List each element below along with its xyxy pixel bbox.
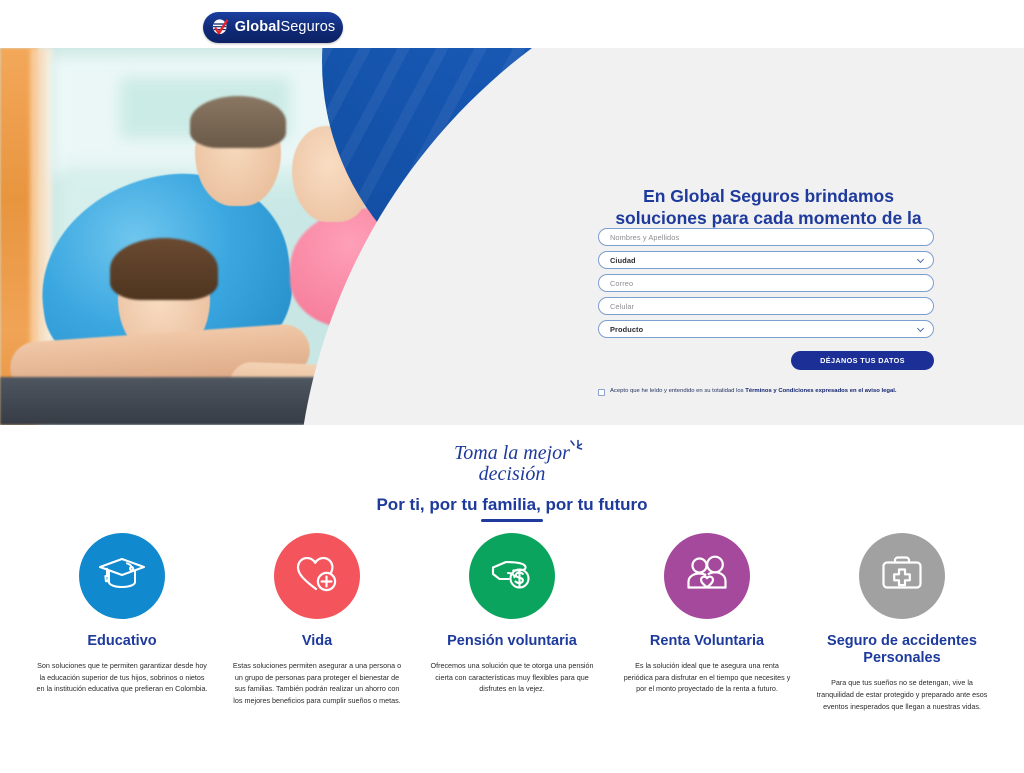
product-cards: Educativo Son soluciones que te permiten… bbox=[0, 533, 1024, 712]
ciudad-select[interactable]: Ciudad bbox=[598, 251, 934, 269]
card-description: Estas soluciones permiten asegurar a una… bbox=[231, 660, 403, 707]
correo-placeholder: Correo bbox=[599, 279, 633, 288]
sparkle-icon bbox=[567, 438, 585, 456]
card-description: Es la solución ideal que te asegura una … bbox=[621, 660, 793, 695]
producto-value: Producto bbox=[599, 325, 643, 334]
logo-bold: Global bbox=[235, 19, 281, 35]
nombres-field[interactable]: Nombres y Apellidos bbox=[598, 228, 934, 246]
globalseguros-logo[interactable]: GlobalSeguros bbox=[203, 12, 343, 43]
card-seguro-accidentes[interactable]: Seguro de accidentes Personales Para que… bbox=[805, 533, 1000, 712]
script-heading: Toma la mejor decisión bbox=[0, 443, 1024, 485]
card-description: Para que tus sueños no se detengan, vive… bbox=[814, 677, 990, 712]
card-icon-circle bbox=[274, 533, 360, 619]
submit-button[interactable]: DÉJANOS TUS DATOS bbox=[791, 351, 934, 370]
nombres-placeholder: Nombres y Apellidos bbox=[599, 233, 679, 242]
celular-placeholder: Celular bbox=[599, 302, 634, 311]
ciudad-value: Ciudad bbox=[599, 256, 636, 265]
first-aid-kit-icon bbox=[876, 548, 928, 605]
card-icon-circle bbox=[79, 533, 165, 619]
celular-field[interactable]: Celular bbox=[598, 297, 934, 315]
globe-check-icon bbox=[211, 18, 230, 37]
section-subheading: Por ti, por tu familia, por tu futuro bbox=[0, 495, 1024, 515]
chevron-down-icon bbox=[917, 256, 924, 263]
terms-row: Acepto que he leído y entendido en su to… bbox=[598, 388, 934, 396]
card-icon-circle bbox=[469, 533, 555, 619]
script-line-2: decisión bbox=[0, 464, 1024, 485]
card-educativo[interactable]: Educativo Son soluciones que te permiten… bbox=[25, 533, 220, 695]
card-icon-circle bbox=[859, 533, 945, 619]
landing-page: GlobalSeguros En G bbox=[0, 0, 1024, 773]
script-line-1: Toma la mejor bbox=[454, 442, 570, 464]
terms-label: Acepto que he leído y entendido en su to… bbox=[610, 388, 897, 395]
card-title: Educativo bbox=[87, 633, 156, 650]
graduation-cap-icon bbox=[96, 548, 148, 605]
card-description: Son soluciones que te permiten garantiza… bbox=[36, 660, 208, 695]
card-title: Renta Voluntaria bbox=[650, 633, 764, 650]
correo-field[interactable]: Correo bbox=[598, 274, 934, 292]
hand-coin-icon bbox=[486, 548, 538, 605]
producto-select[interactable]: Producto bbox=[598, 320, 934, 338]
card-renta-voluntaria[interactable]: Renta Voluntaria Es la solución ideal qu… bbox=[610, 533, 805, 695]
card-title: Pensión voluntaria bbox=[447, 633, 577, 650]
logo-wordmark: GlobalSeguros bbox=[235, 20, 335, 35]
terms-text: Acepto que he leído y entendido en su to… bbox=[610, 388, 745, 394]
section-heading: Toma la mejor decisión Por ti, por tu fa… bbox=[0, 425, 1024, 525]
card-description: Ofrecemos una solución que te otorga una… bbox=[426, 660, 598, 695]
lead-form: Nombres y Apellidos Ciudad Correo Celula… bbox=[598, 228, 934, 396]
card-vida[interactable]: Vida Estas soluciones permiten asegurar … bbox=[220, 533, 415, 707]
heading-underline bbox=[481, 519, 543, 522]
hero-section: En Global Seguros brindamos soluciones p… bbox=[0, 48, 1024, 425]
terms-link[interactable]: Términos y Condiciones expresados en el … bbox=[745, 388, 896, 394]
card-icon-circle bbox=[664, 533, 750, 619]
logo-light: Seguros bbox=[281, 19, 336, 35]
chevron-down-icon bbox=[917, 325, 924, 332]
couple-heart-icon bbox=[681, 548, 733, 605]
card-pension-voluntaria[interactable]: Pensión voluntaria Ofrecemos una solució… bbox=[415, 533, 610, 695]
card-title: Vida bbox=[302, 633, 332, 650]
card-title: Seguro de accidentes Personales bbox=[805, 633, 1000, 667]
heart-plus-icon bbox=[291, 548, 343, 605]
terms-checkbox[interactable] bbox=[598, 389, 605, 396]
top-bar: GlobalSeguros bbox=[0, 0, 1024, 48]
